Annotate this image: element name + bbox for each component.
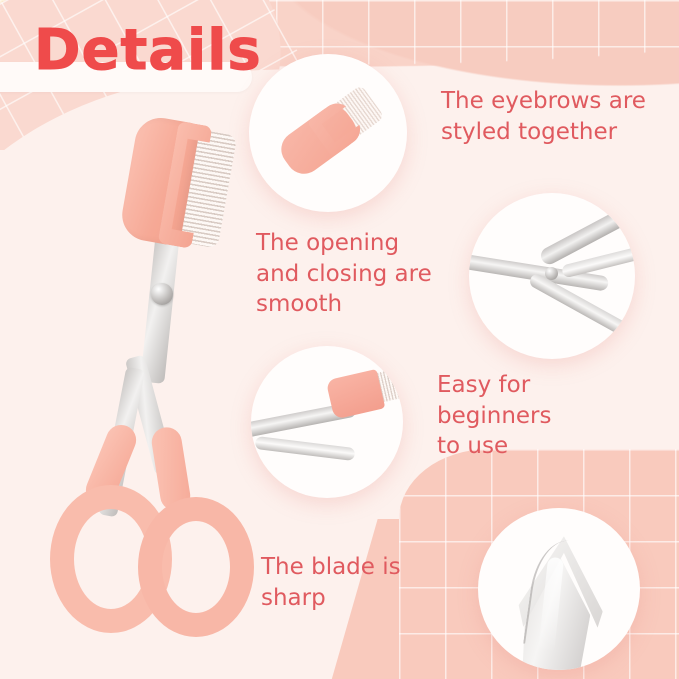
product-comb-guard: [118, 114, 254, 256]
product-infographic: Details: [0, 0, 679, 679]
callout-text-beginners: Easy for beginners to use: [437, 370, 551, 462]
blade-lower: [255, 436, 356, 461]
main-product-image: [20, 105, 260, 645]
photo-blade-tip-closeup: [478, 508, 640, 670]
comb-icon: [274, 83, 386, 181]
comb-guard: [326, 360, 403, 419]
page-title: Details: [34, 18, 262, 83]
scissor-pivot-screw: [545, 267, 558, 280]
photo-scissor-blades-open: [469, 193, 635, 359]
blade-tip: [488, 512, 628, 670]
photo-blades-with-comb-guard: [251, 346, 403, 498]
handle-ring-right: [138, 497, 254, 637]
callout-text-eyebrows: The eyebrows are styled together: [441, 86, 646, 147]
blade-tip-seam: [523, 537, 601, 653]
callout-text-blade: The blade is sharp: [261, 552, 401, 613]
product-pivot-screw: [151, 283, 173, 305]
comb-guard-body: [326, 369, 386, 420]
photo-comb-closeup: [249, 54, 407, 212]
callout-text-opening: The opening and closing are smooth: [256, 228, 432, 320]
